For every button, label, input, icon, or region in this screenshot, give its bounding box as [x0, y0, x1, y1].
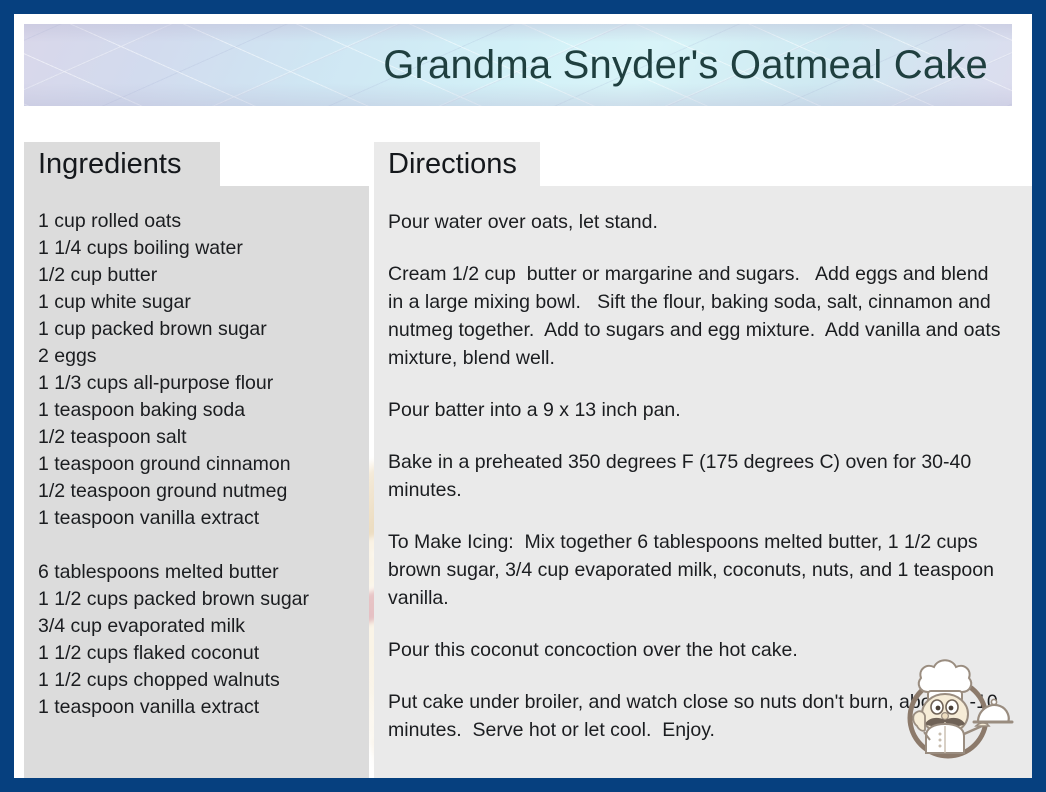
ingredient-group-separator [38, 532, 355, 559]
ingredient-item: 1 teaspoon baking soda [38, 397, 355, 424]
ingredient-item: 2 eggs [38, 343, 355, 370]
ingredient-item: 6 tablespoons melted butter [38, 559, 355, 586]
ingredient-item: 1/2 cup butter [38, 262, 355, 289]
ingredient-item: 1 cup rolled oats [38, 208, 355, 235]
ingredient-item: 1/2 teaspoon ground nutmeg [38, 478, 355, 505]
ingredient-item: 1 1/2 cups chopped walnuts [38, 667, 355, 694]
direction-paragraph: To Make Icing: Mix together 6 tablespoon… [388, 528, 1008, 612]
ingredient-item: 1 1/2 cups flaked coconut [38, 640, 355, 667]
ingredient-item: 1 teaspoon ground cinnamon [38, 451, 355, 478]
recipe-card: Grandma Snyder's Oatmeal Cake [0, 0, 1046, 792]
directions-heading: Directions [374, 142, 540, 186]
ingredient-item: 1 1/4 cups boiling water [38, 235, 355, 262]
ingredient-item: 1 cup white sugar [38, 289, 355, 316]
direction-paragraph: Bake in a preheated 350 degrees F (175 d… [388, 448, 1008, 504]
ingredient-item: 1 1/2 cups packed brown sugar [38, 586, 355, 613]
page-title: Grandma Snyder's Oatmeal Cake [383, 45, 988, 85]
ingredient-item: 1 1/3 cups all-purpose flour [38, 370, 355, 397]
ingredients-column: Ingredients 1 cup rolled oats1 1/4 cups … [24, 142, 369, 792]
chef-mascot-icon [890, 652, 1014, 764]
ingredient-item: 3/4 cup evaporated milk [38, 613, 355, 640]
direction-paragraph: Pour batter into a 9 x 13 inch pan. [388, 396, 1008, 424]
ingredients-heading: Ingredients [24, 142, 220, 186]
ingredient-item: 1 cup packed brown sugar [38, 316, 355, 343]
direction-paragraph: Cream 1/2 cup butter or margarine and su… [388, 260, 1008, 372]
ingredients-list: 1 cup rolled oats1 1/4 cups boiling wate… [24, 186, 369, 792]
direction-paragraph: Pour water over oats, let stand. [388, 208, 1008, 236]
ingredient-item: 1 teaspoon vanilla extract [38, 505, 355, 532]
ingredient-item: 1/2 teaspoon salt [38, 424, 355, 451]
ingredient-item: 1 teaspoon vanilla extract [38, 694, 355, 721]
title-banner: Grandma Snyder's Oatmeal Cake [24, 24, 1012, 106]
